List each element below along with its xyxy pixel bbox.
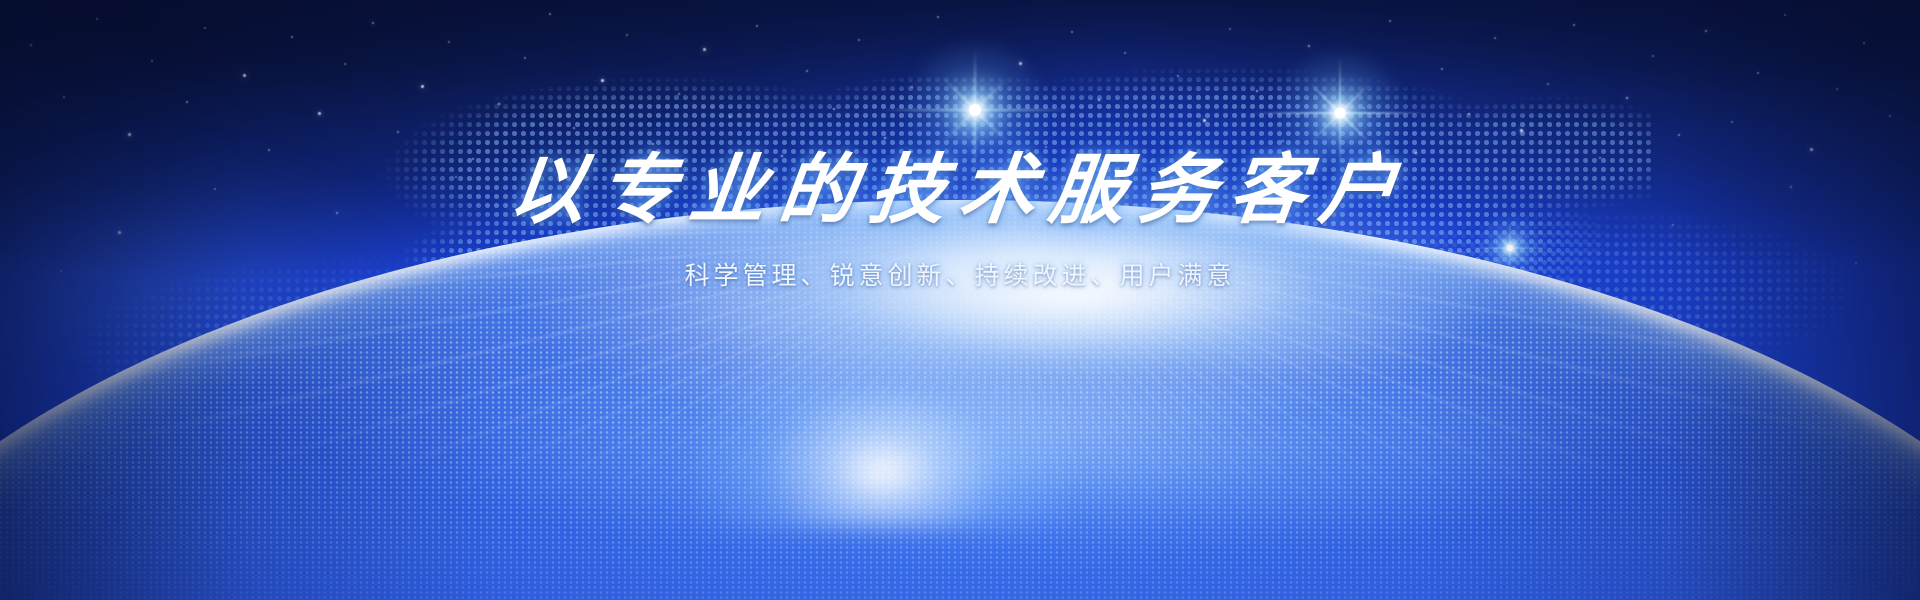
hero-banner: 以专业的技术服务客户 科学管理、锐意创新、持续改进、用户满意 [0,0,1920,600]
banner-subline: 科学管理、锐意创新、持续改进、用户满意 [0,256,1920,292]
banner-headline: 以专业的技术服务客户 [0,150,1920,230]
banner-copy: 以专业的技术服务客户 科学管理、锐意创新、持续改进、用户满意 [0,150,1920,292]
